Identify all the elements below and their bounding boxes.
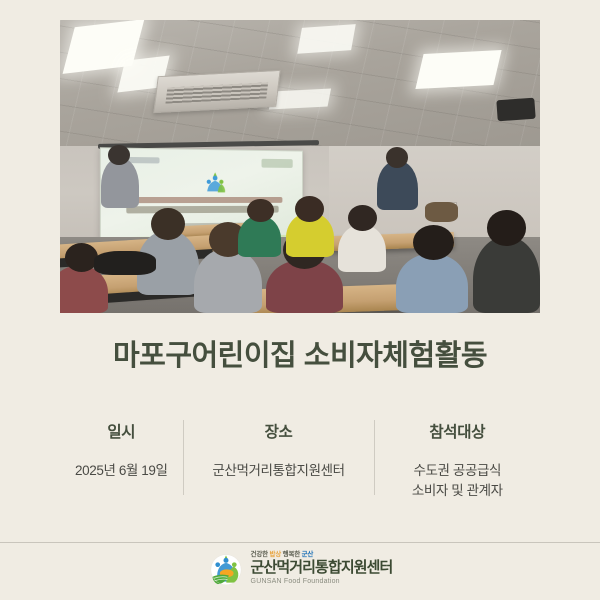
gunsan-food-foundation-logo-icon (208, 551, 244, 587)
ceiling-light-icon (415, 50, 501, 89)
photo-scene (60, 20, 540, 313)
attendee-head (295, 196, 324, 222)
logo-text-block: 건강한 밥상 행복한 군산 군산먹거리통합지원센터 GUNSAN Food Fo… (251, 552, 393, 586)
detail-label-location: 장소 (184, 420, 374, 442)
detail-label-date: 일시 (60, 420, 183, 442)
logo-tagline-part4: 군산 (302, 551, 314, 558)
ceiling-light-icon (269, 89, 331, 110)
event-details-row: 일시 2025년 6월 19일 장소 군산먹거리통합지원센터 참석대상 수도권 … (60, 418, 540, 504)
detail-value-location: 군산먹거리통합지원센터 (184, 461, 374, 481)
attendee-head (413, 225, 454, 260)
presenter (101, 158, 139, 208)
page-title: 마포구어린이집 소비자체험활동 (0, 332, 600, 374)
projector-icon (496, 98, 536, 121)
detail-value-date: 2025년 6월 19일 (60, 461, 183, 481)
attendee (338, 225, 386, 272)
attendee (396, 254, 468, 313)
organization-logo: 건강한 밥상 행복한 군산 군산먹거리통합지원센터 GUNSAN Food Fo… (0, 549, 600, 589)
detail-column-location: 장소 군산먹거리통합지원센터 (184, 418, 374, 481)
logo-tagline-part2: 밥상 (270, 551, 282, 558)
attendee-head (348, 205, 377, 231)
air-conditioner-vent (153, 70, 281, 113)
attendee (473, 237, 540, 313)
event-announcement-card: 마포구어린이집 소비자체험활동 일시 2025년 6월 19일 장소 군산먹거리… (0, 0, 600, 600)
slide-header-right-logo (262, 158, 292, 168)
bag-on-desk (94, 251, 156, 274)
logo-tagline-part1: 건강한 (251, 551, 268, 558)
attendee-head (247, 199, 273, 222)
detail-value-attendees-line1: 수도권 공공급식 (375, 461, 540, 481)
attendee (238, 216, 281, 257)
bag-on-desk (425, 202, 459, 223)
logo-tagline-part3: 행복한 (283, 551, 300, 558)
detail-label-attendees: 참석대상 (375, 420, 540, 442)
detail-column-attendees: 참석대상 수도권 공공급식 소비자 및 관계자 (375, 418, 540, 500)
logo-tagline: 건강한 밥상 행복한 군산 (251, 552, 393, 559)
ceiling-light-icon (297, 24, 355, 54)
attendee-head (151, 208, 185, 240)
detail-column-date: 일시 2025년 6월 19일 (60, 418, 183, 481)
event-photo (60, 20, 540, 313)
attendee (194, 249, 261, 313)
detail-value-attendees-line2: 소비자 및 관계자 (375, 481, 540, 501)
presenter-head (108, 145, 130, 166)
footer-divider (0, 542, 600, 543)
attendee-head (487, 210, 525, 245)
slide-center-logo-icon (189, 168, 241, 200)
logo-organization-name: 군산먹거리통합지원센터 (251, 560, 393, 576)
logo-organization-subtitle: GUNSAN Food Foundation (251, 577, 393, 586)
presenter (377, 161, 418, 211)
